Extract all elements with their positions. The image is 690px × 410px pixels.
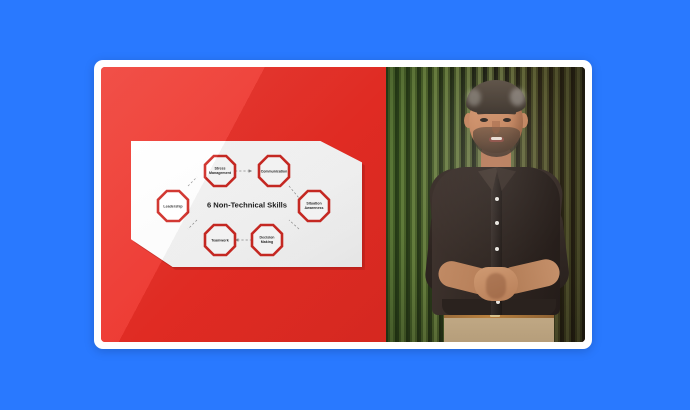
node-label-stress-1: Stress: [215, 167, 226, 171]
presenter-video-panel: [386, 67, 585, 342]
node-situation-awareness[interactable]: Situation Awareness: [299, 191, 329, 221]
presenter-figure: [386, 67, 585, 342]
node-label-communication: Communication: [261, 169, 287, 173]
node-leadership[interactable]: Leadership: [158, 191, 188, 221]
presenter-right-eye: [503, 118, 511, 122]
node-decision-making[interactable]: Decision Making: [252, 225, 282, 255]
presentation-slide-panel: Stress Management Communication Situatio…: [101, 67, 386, 342]
screenshot-root: Stress Management Communication Situatio…: [0, 0, 690, 410]
diagram-center-title: 6 Non-Technical Skills: [207, 201, 287, 210]
presenter-hair-highlight-right: [510, 88, 525, 106]
node-label-decision-1: Decision: [260, 236, 275, 240]
node-teamwork[interactable]: Teamwork: [205, 225, 235, 255]
shirt-button: [495, 197, 499, 201]
slide-card: Stress Management Communication Situatio…: [131, 141, 362, 267]
node-label-teamwork: Teamwork: [211, 238, 229, 242]
presenter-nose: [492, 121, 500, 134]
node-label-situation-2: Awareness: [305, 206, 324, 210]
presenter-hands-shadow: [486, 273, 506, 299]
video-player-frame[interactable]: Stress Management Communication Situatio…: [94, 60, 592, 349]
node-label-decision-2: Making: [261, 240, 273, 244]
node-label-stress-2: Management: [209, 171, 232, 175]
video-content: Stress Management Communication Situatio…: [101, 67, 585, 342]
non-technical-skills-diagram: Stress Management Communication Situatio…: [131, 141, 362, 267]
node-communication[interactable]: Communication: [259, 156, 289, 186]
node-stress-management[interactable]: Stress Management: [205, 156, 235, 186]
shirt-button: [495, 247, 499, 251]
node-label-situation-1: Situation: [306, 202, 321, 206]
presenter-teeth: [491, 137, 502, 140]
presenter-hair-highlight-left: [467, 89, 481, 106]
presenter-left-eye: [480, 118, 488, 122]
node-label-leadership: Leadership: [163, 204, 183, 208]
shirt-button: [495, 221, 499, 225]
